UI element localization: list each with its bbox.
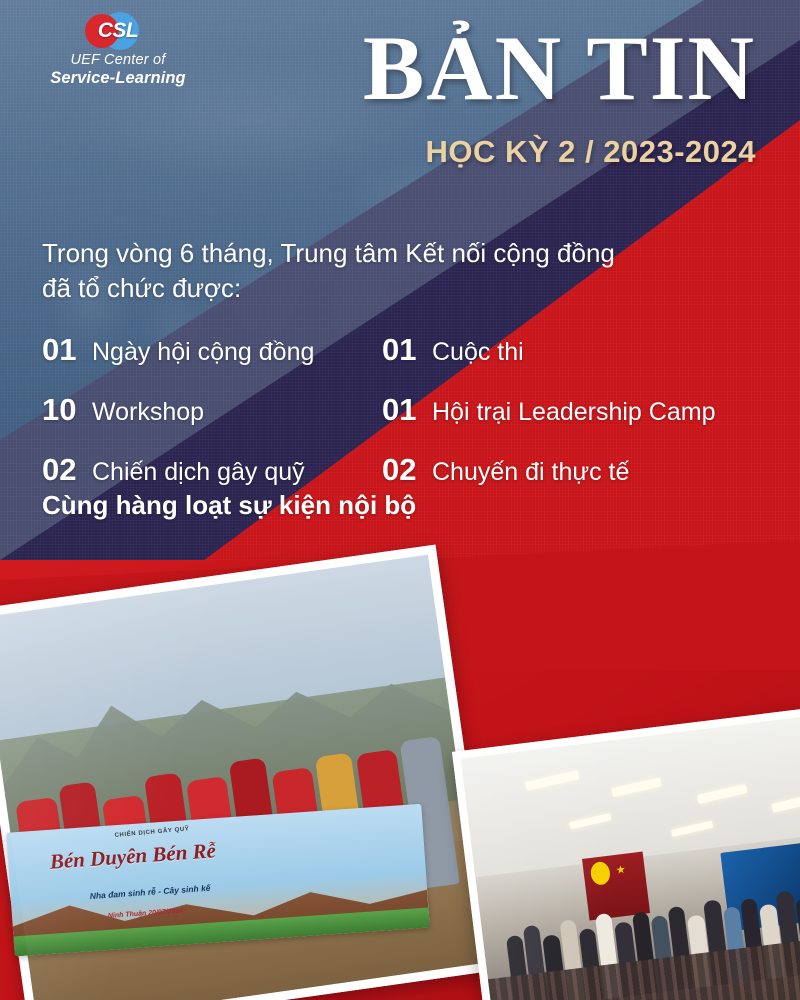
stat-label: Hội trại Leadership Camp bbox=[432, 398, 715, 427]
stat-item: 01 Ngày hội cộng đồng bbox=[42, 332, 382, 368]
stat-number: 10 bbox=[42, 392, 92, 428]
intro-line-1: Trong vòng 6 tháng, Trung tâm Kết nối cộ… bbox=[42, 236, 742, 271]
stat-label: Chuyến đi thực tế bbox=[432, 458, 629, 487]
csl-logo: CSL UEF Center of Service-Learning bbox=[28, 12, 208, 88]
stat-label: Cuộc thi bbox=[432, 338, 524, 367]
logo-line-2: Service-Learning bbox=[28, 69, 208, 88]
stat-number: 01 bbox=[42, 332, 92, 368]
intro-line-2: đã tổ chức được: bbox=[42, 271, 742, 306]
newsletter-poster: CSL UEF Center of Service-Learning BẢN T… bbox=[0, 0, 800, 1000]
logo-acronym: CSL bbox=[77, 12, 159, 50]
csl-logo-mark: CSL bbox=[77, 12, 159, 50]
photo-frame-auditorium: ★ Shine bbox=[452, 703, 800, 1000]
star-icon: ★ bbox=[615, 865, 626, 877]
page-title: BẢN TIN bbox=[363, 22, 756, 114]
stat-label: Ngày hội cộng đồng bbox=[92, 338, 314, 367]
stat-row: 02 Chiến dịch gây quỹ 02 Chuyến đi thực … bbox=[42, 448, 762, 492]
stat-item: 02 Chuyến đi thực tế bbox=[382, 452, 762, 488]
banner-title: Bén Duyên Bén Rễ bbox=[49, 838, 217, 875]
stat-number: 02 bbox=[42, 452, 92, 488]
stat-label: Workshop bbox=[92, 398, 204, 427]
stat-number: 01 bbox=[382, 392, 432, 428]
stat-label: Chiến dịch gây quỹ bbox=[92, 458, 305, 487]
stat-item: 01 Cuộc thi bbox=[382, 332, 762, 368]
stat-number: 01 bbox=[382, 332, 432, 368]
photo-fundraising-image: CHIẾN DỊCH GÂY QUỸ Bén Duyên Bén Rễ Nha … bbox=[0, 555, 485, 1000]
photo-auditorium-image: ★ Shine bbox=[461, 712, 800, 1000]
statistics-grid: 01 Ngày hội cộng đồng 01 Cuộc thi 10 Wor… bbox=[42, 328, 762, 508]
intro-paragraph: Trong vòng 6 tháng, Trung tâm Kết nối cộ… bbox=[42, 236, 742, 306]
stat-number: 02 bbox=[382, 452, 432, 488]
stat-item: 01 Hội trại Leadership Camp bbox=[382, 392, 762, 428]
photo-frame-fundraising: CHIẾN DỊCH GÂY QUỸ Bén Duyên Bén Rễ Nha … bbox=[0, 545, 495, 1000]
stat-row: 10 Workshop 01 Hội trại Leadership Camp bbox=[42, 388, 762, 432]
stat-item: 02 Chiến dịch gây quỹ bbox=[42, 452, 382, 488]
stat-row: 01 Ngày hội cộng đồng 01 Cuộc thi bbox=[42, 328, 762, 372]
page-subtitle: HỌC KỲ 2 / 2023-2024 bbox=[425, 136, 756, 167]
logo-line-1: UEF Center of bbox=[28, 52, 208, 68]
banner-tagline: Nha đam sinh rễ - Cây sinh kế bbox=[89, 883, 210, 901]
banner-campaign-label: CHIẾN DỊCH GÂY QUỸ bbox=[114, 826, 189, 839]
stat-item: 10 Workshop bbox=[42, 392, 382, 428]
closing-line: Cùng hàng loạt sự kiện nội bộ bbox=[42, 490, 416, 521]
